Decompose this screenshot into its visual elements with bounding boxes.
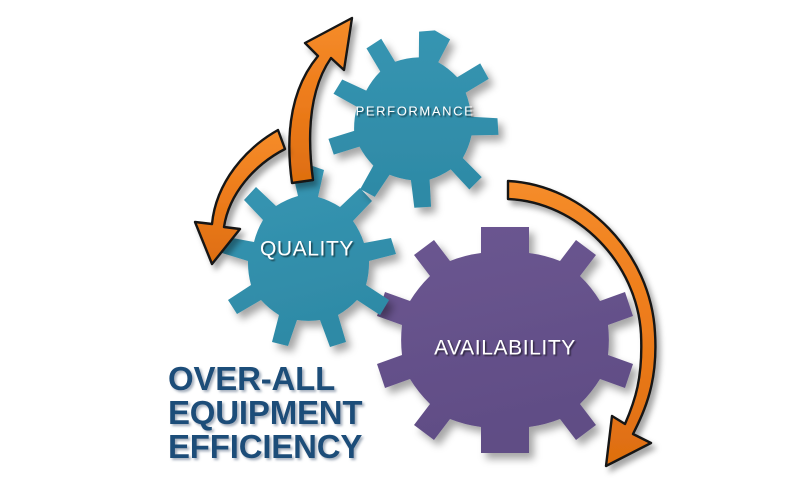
gear-quality-label: QUALITY xyxy=(260,238,354,261)
title-line-3: EFFICIENCY xyxy=(168,428,362,465)
page-title: OVER-ALL EQUIPMENT EFFICIENCY xyxy=(168,360,362,465)
title-line-1: OVER-ALL xyxy=(168,360,335,397)
title-line-2: EQUIPMENT xyxy=(168,394,362,431)
gear-performance-label: PERFORMANCE xyxy=(356,103,475,118)
diagram-svg: AVAILABILITY QUALITY PERFORMANCE OV xyxy=(0,0,800,500)
oee-diagram-canvas: AVAILABILITY QUALITY PERFORMANCE OV xyxy=(0,0,800,500)
gear-availability-label: AVAILABILITY xyxy=(434,337,576,360)
